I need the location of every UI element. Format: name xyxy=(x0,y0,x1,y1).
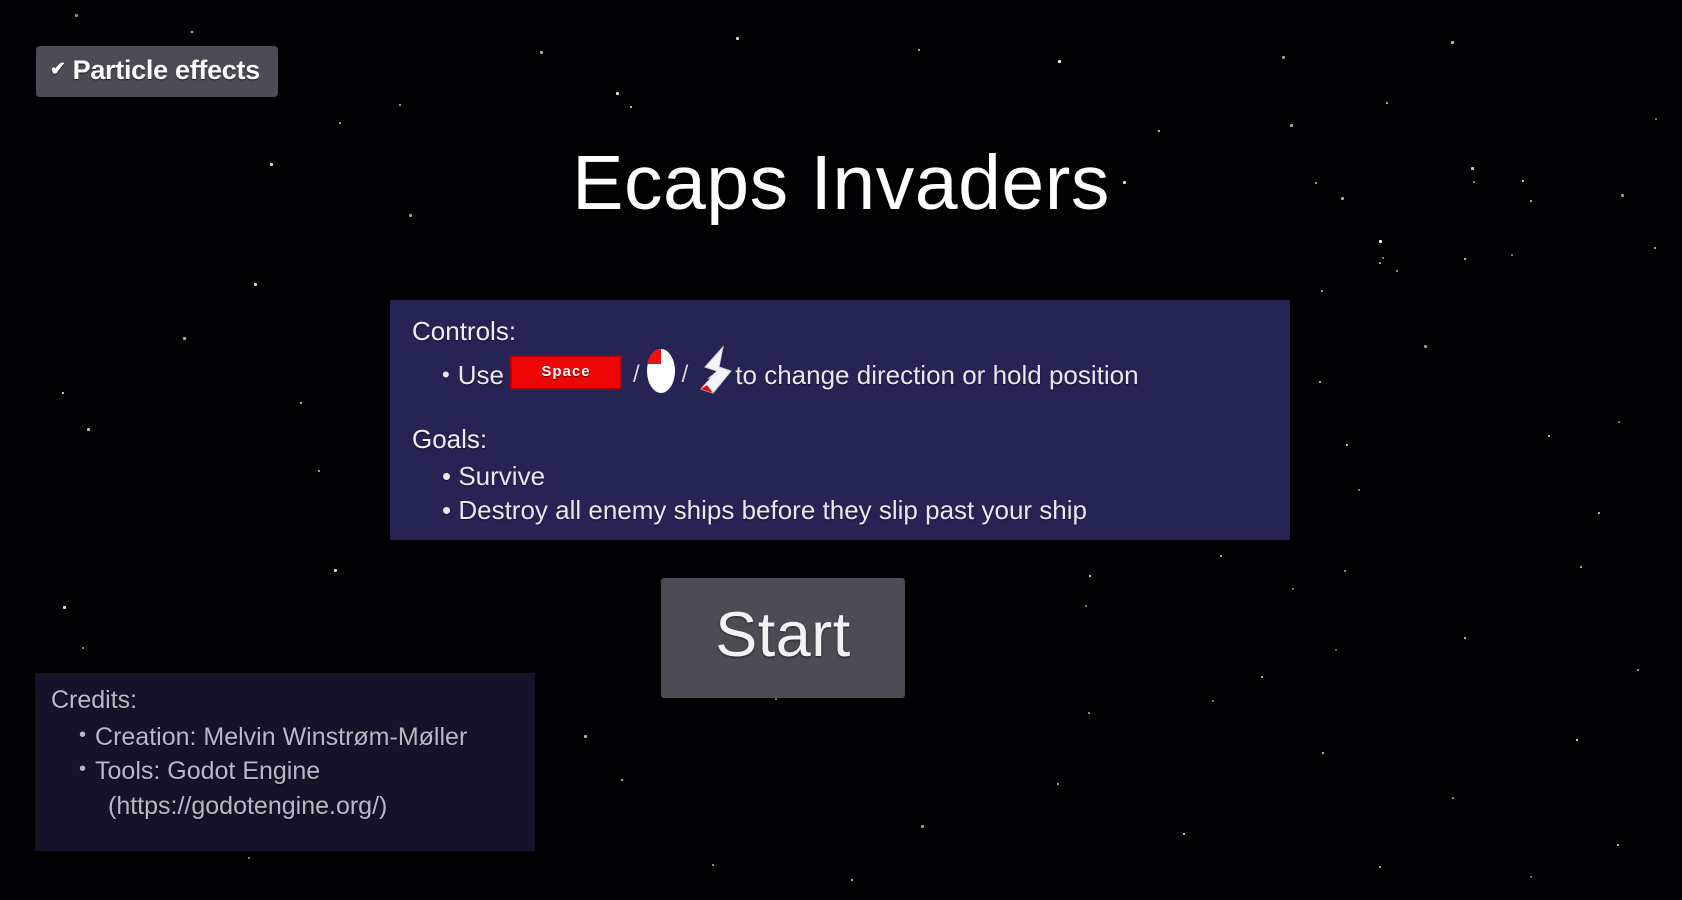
star xyxy=(540,51,543,54)
controls-suffix: to change direction or hold position xyxy=(735,358,1138,392)
start-button[interactable]: Start xyxy=(661,578,905,698)
star xyxy=(63,606,66,609)
star xyxy=(1282,56,1285,59)
credits-text: Creation: Melvin Winstrøm-Møller xyxy=(95,720,467,755)
credits-text: Tools: Godot Engine xyxy=(95,754,320,789)
particle-effects-label: Particle effects xyxy=(73,55,260,86)
goal-text: Survive xyxy=(458,461,545,491)
star xyxy=(1654,247,1656,249)
star xyxy=(1088,712,1090,714)
star xyxy=(300,402,302,404)
star xyxy=(775,698,777,700)
star xyxy=(1424,345,1427,348)
star xyxy=(183,337,186,340)
particle-effects-checkbox[interactable]: ✔ Particle effects xyxy=(36,46,278,97)
star xyxy=(1058,60,1061,63)
star xyxy=(1212,700,1214,702)
credits-panel: Credits: • Creation: Melvin Winstrøm-Møl… xyxy=(35,673,535,851)
star xyxy=(75,14,78,17)
star xyxy=(1335,649,1337,651)
star xyxy=(1464,637,1466,639)
star xyxy=(334,569,337,572)
star xyxy=(1158,130,1160,132)
page-title: Ecaps Invaders xyxy=(0,145,1682,222)
credits-godot-url[interactable]: (https://godotengine.org/) xyxy=(51,789,519,824)
goals-heading: Goals: xyxy=(412,422,1268,456)
star xyxy=(1580,566,1582,568)
bullet-icon: • xyxy=(79,754,86,789)
star xyxy=(1292,588,1294,590)
controls-bullet-row: • Use Space / / to change direction or h… xyxy=(412,350,1268,400)
star xyxy=(248,857,250,859)
star xyxy=(1598,512,1600,514)
goal-text: Destroy all enemy ships before they slip… xyxy=(458,495,1087,525)
star xyxy=(62,392,64,394)
star xyxy=(1085,605,1087,607)
bullet-icon: • xyxy=(79,720,86,755)
click-cursor-icon xyxy=(693,345,735,395)
controls-prefix: Use xyxy=(458,358,504,392)
goal-item-2: • Destroy all enemy ships before they sl… xyxy=(412,493,1268,527)
star xyxy=(339,122,341,124)
star xyxy=(630,106,632,108)
star xyxy=(1319,381,1321,383)
star xyxy=(82,647,84,649)
separator-2: / xyxy=(682,359,689,391)
panel-spacer xyxy=(412,400,1268,422)
star xyxy=(1576,739,1578,741)
controls-heading: Controls: xyxy=(412,314,1268,348)
star xyxy=(621,779,623,781)
star xyxy=(1386,102,1388,104)
star xyxy=(254,283,257,286)
star xyxy=(1379,262,1381,264)
star xyxy=(1464,258,1466,260)
game-screen: ✔ Particle effects Ecaps Invaders Contro… xyxy=(0,0,1682,900)
star xyxy=(1344,570,1346,572)
star xyxy=(1358,489,1360,491)
mouse-icon xyxy=(645,348,677,394)
star xyxy=(399,104,401,106)
star xyxy=(918,49,920,51)
star xyxy=(1511,254,1513,256)
star xyxy=(87,428,90,431)
star xyxy=(1261,676,1263,678)
star xyxy=(1379,240,1382,243)
separator-1: / xyxy=(633,359,640,391)
star xyxy=(921,825,924,828)
star xyxy=(736,37,739,40)
checkmark-icon: ✔ xyxy=(50,60,66,79)
star xyxy=(1452,797,1454,799)
credits-heading: Credits: xyxy=(51,683,519,718)
star xyxy=(191,31,193,33)
star xyxy=(1618,421,1620,423)
star xyxy=(1637,669,1639,671)
credits-item-creation: • Creation: Melvin Winstrøm-Møller xyxy=(51,720,519,755)
star xyxy=(851,879,853,881)
info-panel: Controls: • Use Space / / to chan xyxy=(390,300,1290,540)
bullet-icon: • xyxy=(442,461,451,491)
star xyxy=(712,864,714,866)
space-key-badge[interactable]: Space xyxy=(510,355,622,390)
star xyxy=(1379,866,1381,868)
goal-item-1: • Survive xyxy=(412,459,1268,493)
star xyxy=(584,735,587,738)
star xyxy=(318,470,320,472)
star xyxy=(1089,575,1091,577)
star xyxy=(1346,444,1348,446)
star xyxy=(1548,435,1550,437)
star xyxy=(1655,118,1657,120)
star xyxy=(1290,124,1293,127)
credits-item-tools: • Tools: Godot Engine xyxy=(51,754,519,789)
star xyxy=(1322,752,1324,754)
star xyxy=(1057,783,1059,785)
star xyxy=(1451,41,1454,44)
star xyxy=(1396,270,1398,272)
bullet-icon: • xyxy=(442,364,450,386)
star xyxy=(1617,844,1619,846)
star xyxy=(1183,833,1185,835)
star xyxy=(1530,876,1532,878)
star xyxy=(1220,555,1222,557)
star xyxy=(616,92,619,95)
star xyxy=(1321,290,1323,292)
bullet-icon: • xyxy=(442,495,451,525)
star xyxy=(1382,257,1384,259)
